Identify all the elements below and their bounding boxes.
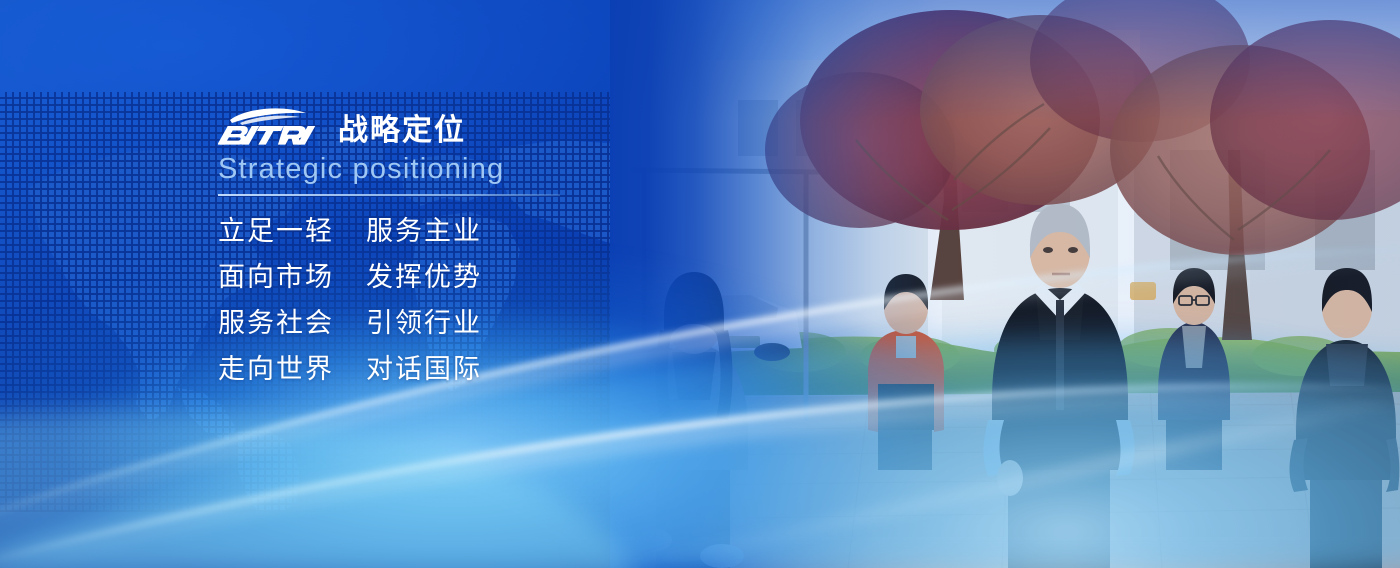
slogan-left: 走向世界 [218, 356, 366, 383]
slogan-right: 引领行业 [366, 310, 482, 337]
title-divider [218, 194, 560, 196]
photo-image [610, 0, 1400, 568]
slogan-right: 服务主业 [366, 218, 482, 245]
slogan-row: 服务社会 引领行业 [218, 310, 648, 337]
slogan-list: 立足一轻 服务主业 面向市场 发挥优势 服务社会 引领行业 走向世界 对话国际 [218, 218, 648, 383]
photo-people-walking [610, 0, 1400, 568]
slogan-left: 立足一轻 [218, 218, 366, 245]
strategic-positioning-banner: 战略定位 Strategic positioning 立足一轻 服务主业 面向市… [0, 0, 1400, 568]
slogan-row: 立足一轻 服务主业 [218, 218, 648, 245]
bitri-swoosh-icon [218, 106, 322, 148]
banner-subtitle-en: Strategic positioning [218, 154, 648, 186]
slogan-right: 发挥优势 [366, 264, 482, 291]
banner-title-cn: 战略定位 [338, 116, 466, 148]
slogan-left: 面向市场 [218, 264, 366, 291]
bitri-logo [218, 106, 322, 148]
logo-row: 战略定位 [218, 104, 648, 148]
slogan-right: 对话国际 [366, 356, 482, 383]
banner-content: 战略定位 Strategic positioning 立足一轻 服务主业 面向市… [218, 104, 648, 383]
slogan-left: 服务社会 [218, 310, 366, 337]
slogan-row: 面向市场 发挥优势 [218, 264, 648, 291]
slogan-row: 走向世界 对话国际 [218, 356, 648, 383]
